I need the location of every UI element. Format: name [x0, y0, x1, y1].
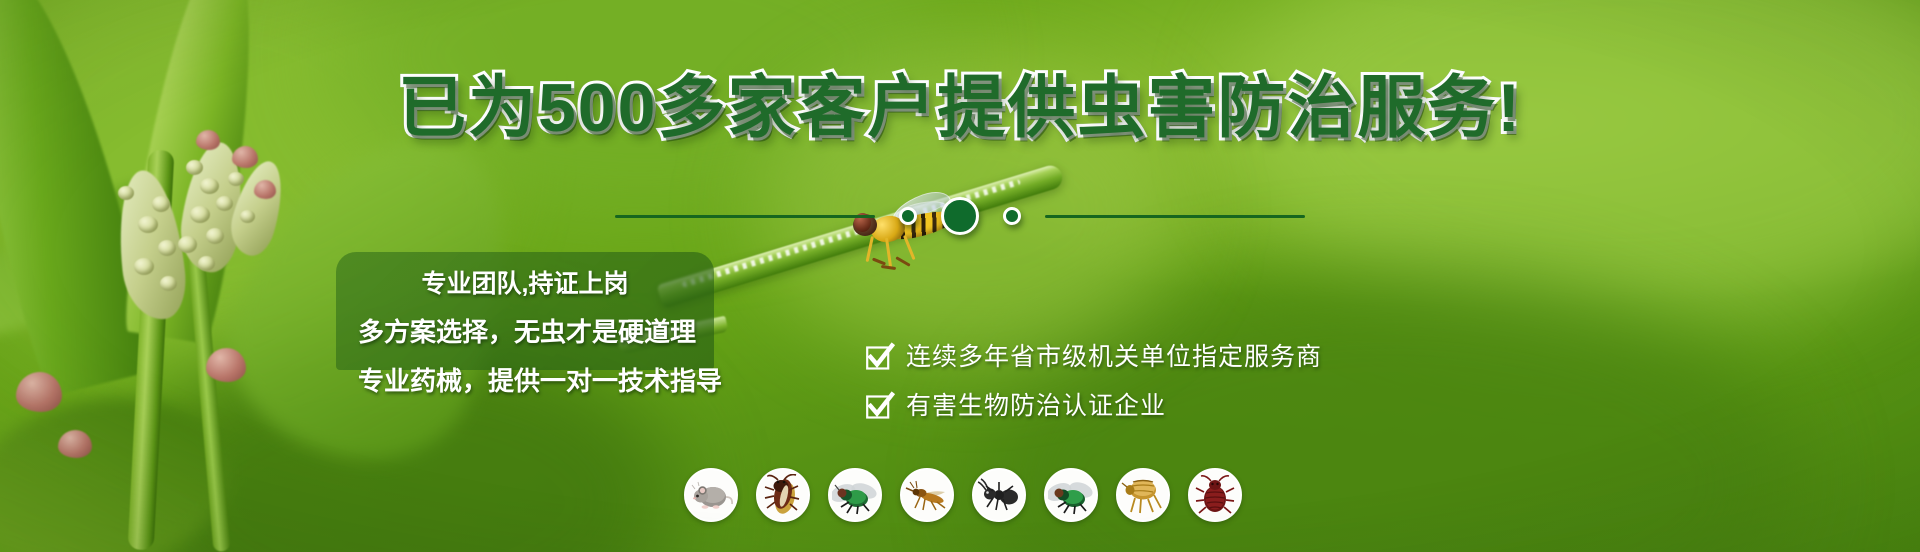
rodent-icon[interactable]	[684, 468, 738, 522]
bedbug-icon[interactable]	[1188, 468, 1242, 522]
checkbox-checked-icon	[866, 344, 893, 371]
feature-panel: 专业团队,持证上岗 多方案选择，无虫才是硬道理 专业药械，提供一对一技术指导	[336, 252, 714, 370]
banner-headline: 已为500多家客户提供虫害防治服务!	[0, 74, 1920, 142]
insect-leg	[872, 257, 886, 265]
flea-icon[interactable]	[1116, 468, 1170, 522]
ant-icon[interactable]	[972, 468, 1026, 522]
feature-panel-line-3: 专业药械，提供一对一技术指导	[358, 361, 692, 398]
flower-bud	[186, 160, 203, 175]
background-bokeh-blob	[1240, 0, 1920, 330]
pest-icon-strip	[684, 468, 1242, 522]
feature-panel-line-1: 专业团队,持证上岗	[358, 264, 692, 300]
pest-control-banner: 已为500多家客户提供虫害防治服务! 专业团队,持证上岗 多方案选择，无虫才是硬…	[0, 0, 1920, 552]
insect-leg	[881, 265, 896, 270]
divider-line-left	[615, 215, 875, 218]
feature-panel-line-2: 多方案选择，无虫才是硬道理	[358, 312, 692, 349]
flower-bud	[58, 430, 92, 458]
flower-bud	[228, 172, 244, 186]
divider-line-right	[1045, 215, 1305, 218]
banner-headline-text: 已为500多家客户提供虫害防治服务!	[398, 70, 1522, 146]
flower-bud	[200, 178, 219, 194]
credential-checklist: 连续多年省市级机关单位指定服务商 有害生物防治认证企业	[866, 344, 1322, 420]
flower-bud	[198, 256, 215, 271]
divider-dot-small-right	[1003, 207, 1021, 225]
flower-bud	[134, 258, 154, 275]
checkbox-checked-icon	[866, 393, 893, 420]
flower-bud	[158, 240, 176, 256]
fly-icon[interactable]	[828, 468, 882, 522]
mosquito-icon[interactable]	[900, 468, 954, 522]
flower-bud	[178, 236, 197, 253]
flower-bud	[16, 372, 62, 412]
insect-leg	[885, 238, 892, 268]
checklist-item-label: 连续多年省市级机关单位指定服务商	[906, 345, 1322, 370]
flower-bud	[232, 146, 258, 168]
checklist-item: 有害生物防治认证企业	[866, 393, 1322, 420]
flower-bud	[206, 348, 246, 382]
cockroach-icon[interactable]	[756, 468, 810, 522]
divider-dot-small-left	[899, 207, 917, 225]
checklist-item: 连续多年省市级机关单位指定服务商	[866, 344, 1322, 371]
decorative-divider	[0, 197, 1920, 235]
divider-dot-large	[941, 197, 979, 235]
fly-icon-2[interactable]	[1044, 468, 1098, 522]
checklist-item-label: 有害生物防治认证企业	[906, 394, 1166, 419]
flower-bud	[160, 276, 177, 291]
insect-leg	[895, 256, 910, 267]
